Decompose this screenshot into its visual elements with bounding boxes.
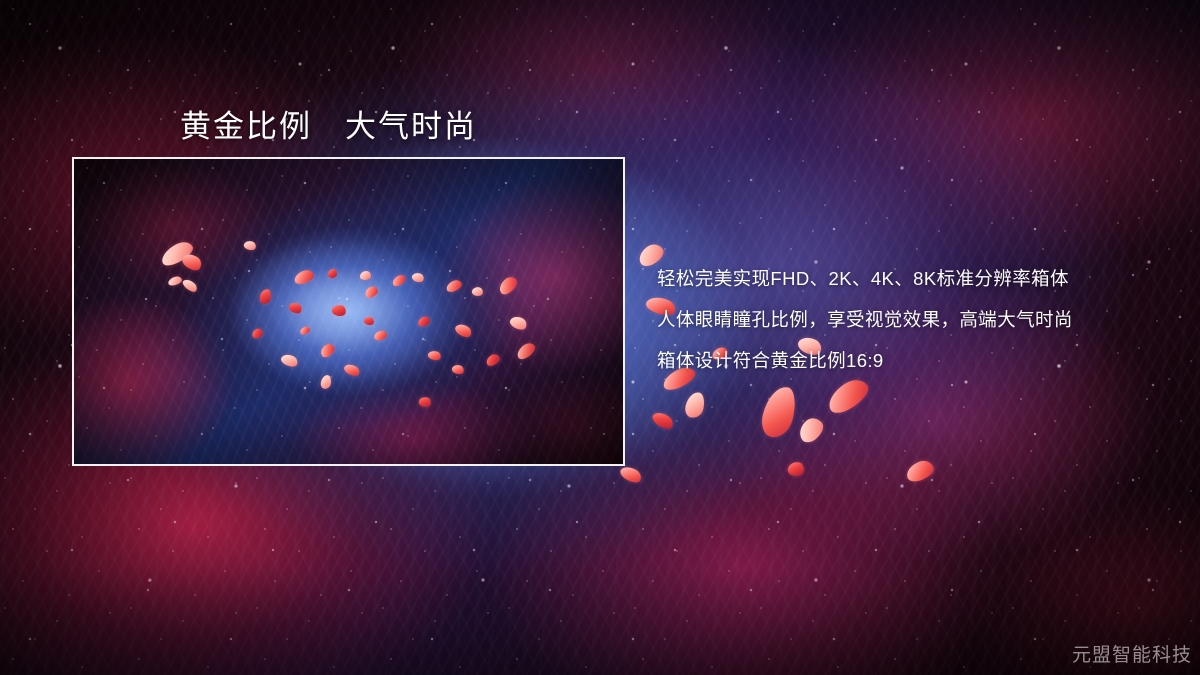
body-line-2: 人体眼睛瞳孔比例，享受视觉效果，高端大气时尚 — [657, 299, 1177, 340]
watermark: 元盟智能科技 — [1072, 640, 1192, 667]
body-line-3: 箱体设计符合黄金比例16:9 — [657, 340, 1177, 381]
slide-canvas: 黄金比例 大气时尚 轻松完美实现FHD、2K、4K、8K标准分辨率箱体 人体眼睛… — [0, 0, 1200, 675]
body-line-1: 轻松完美实现FHD、2K、4K、8K标准分辨率箱体 — [657, 258, 1177, 299]
framed-vignette — [74, 159, 623, 464]
body-copy: 轻松完美实现FHD、2K、4K、8K标准分辨率箱体 人体眼睛瞳孔比例，享受视觉效… — [657, 258, 1177, 381]
photo-frame — [72, 157, 625, 466]
page-title: 黄金比例 大气时尚 — [180, 101, 477, 146]
